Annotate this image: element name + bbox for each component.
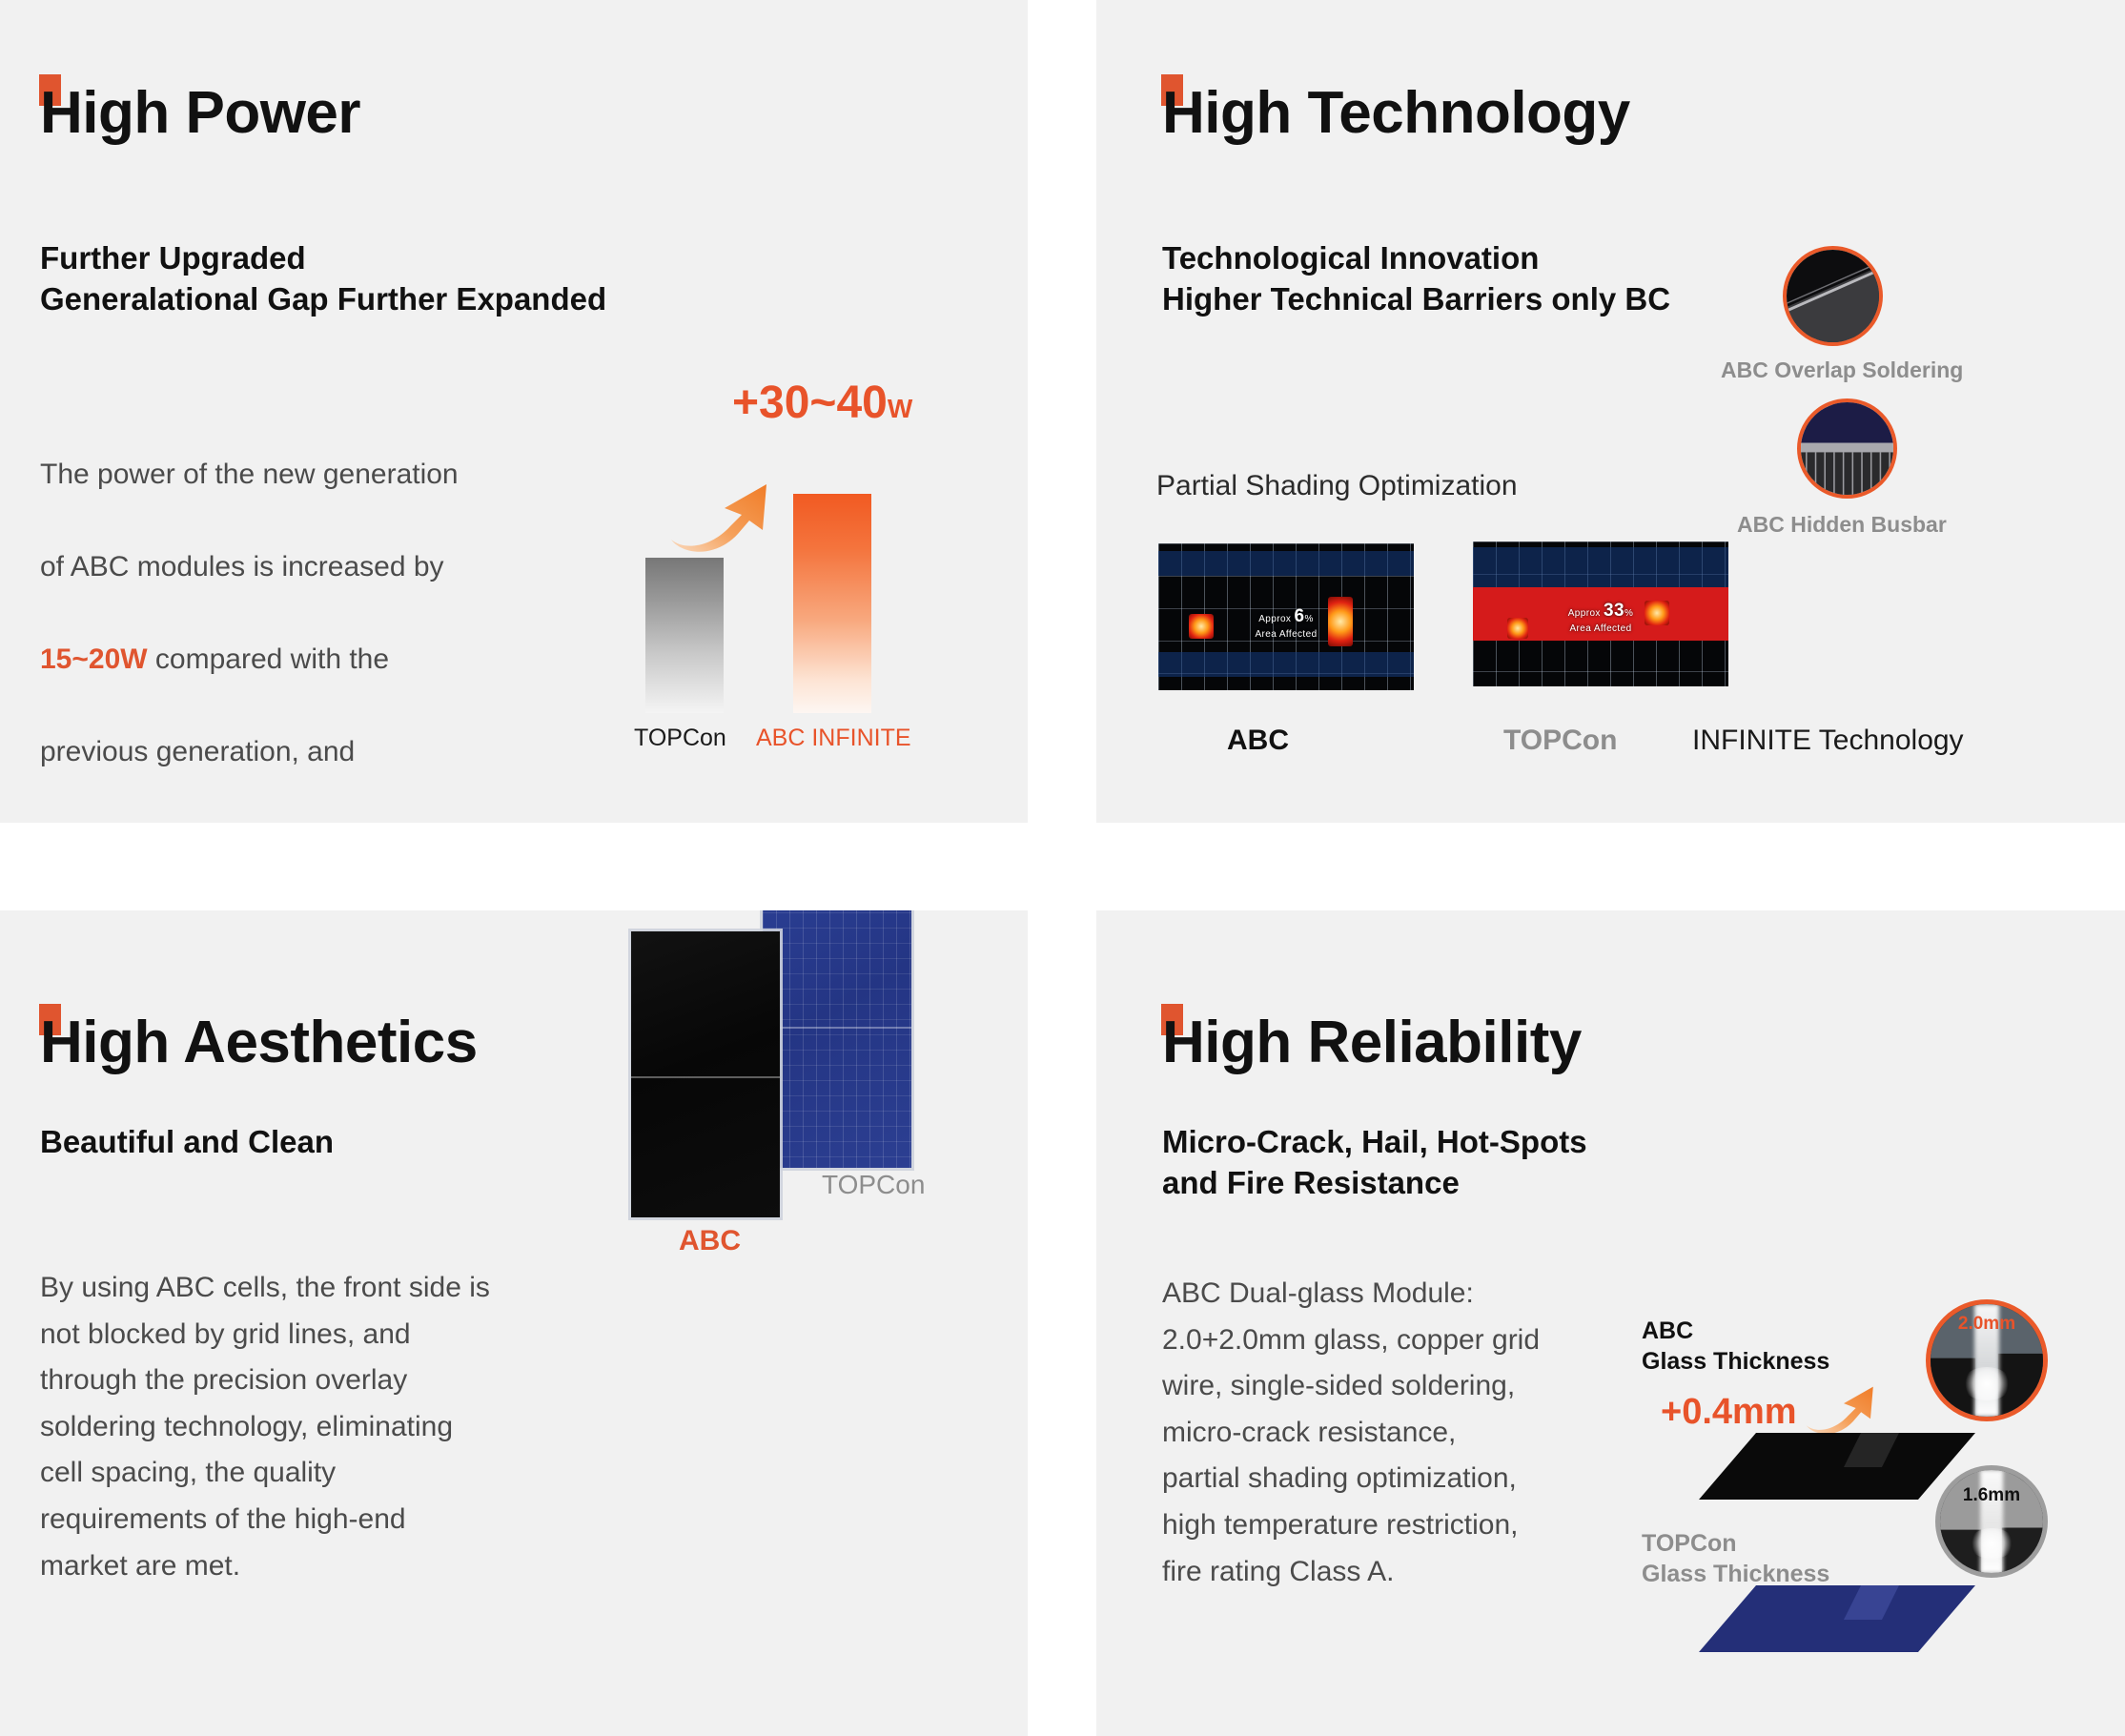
solar-panel-abc-image: [631, 931, 780, 1217]
light-glow: [1962, 1367, 2012, 1400]
label-abc-glass-thickness: ABC Glass Thickness: [1642, 1316, 1829, 1377]
light-glow: [1969, 1528, 2014, 1559]
caption-abc: ABC: [1227, 725, 1289, 757]
badge-caption-overlap-soldering: ABC Overlap Soldering: [1721, 357, 1963, 383]
thermal-band-blue: [1473, 547, 1728, 587]
page-title: High Aesthetics: [40, 1013, 478, 1072]
panel-body: The power of the new generation of ABC m…: [40, 405, 593, 823]
caption-topcon: TOPCon: [1503, 725, 1617, 757]
caption-infinite-technology: INFINITE Technology: [1692, 725, 1964, 757]
page-title: High Technology: [1162, 84, 1630, 143]
body-line-2: of ABC modules is increased by: [40, 551, 444, 582]
label-topcon-glass-thickness: TOPCon Glass Thickness: [1642, 1528, 1829, 1589]
page-title: High Power: [40, 84, 360, 143]
page-title: High Reliability: [1162, 1013, 1582, 1072]
panel-split-line: [763, 1027, 911, 1029]
body-line-1: The power of the new generation: [40, 459, 459, 490]
glass-slab-topcon: [1699, 1585, 1975, 1662]
panel-high-aesthetics: High Aesthetics Beautiful and Clean By u…: [0, 910, 1028, 1736]
chart-annotation-unit: W: [888, 394, 912, 423]
value-topcon-thickness: 1.6mm: [1940, 1485, 2043, 1506]
bar-topcon: [645, 558, 724, 713]
body-highlight-1: 15~20W: [40, 643, 148, 675]
magnifier-topcon-glass: 1.6mm: [1935, 1465, 2048, 1578]
badge-abc-hidden-busbar-image: [1797, 398, 1897, 499]
value-abc-thickness: 2.0mm: [1931, 1314, 2043, 1335]
label-thickness-delta: +0.4mm: [1661, 1392, 1797, 1433]
solar-panel-topcon-image: [763, 910, 911, 1168]
panel-subtitle: Technological Innovation Higher Technica…: [1162, 238, 2039, 320]
panel-split-line: [631, 1076, 780, 1078]
bar-label-topcon: TOPCon: [634, 725, 726, 752]
panel-subtitle: Further Upgraded Generalational Gap Furt…: [40, 238, 898, 320]
pv-caption-abc: ABC: [679, 1225, 741, 1257]
panel-high-reliability: High Reliability Micro-Crack, Hail, Hot-…: [1096, 910, 2125, 1736]
rising-arrow-icon: [1804, 1379, 1884, 1437]
panel-body: ABC Dual-glass Module: 2.0+2.0mm glass, …: [1162, 1271, 1658, 1595]
thermal-band-blue: [1158, 551, 1414, 576]
panel-high-technology: High Technology Technological Innovation…: [1096, 0, 2125, 823]
panel-subtitle: Micro-Crack, Hail, Hot-Spots and Fire Re…: [1162, 1122, 2039, 1204]
badge-abc-overlap-soldering-image: [1783, 246, 1883, 346]
thermal-image-abc: Approx 6% Area Affected: [1158, 543, 1414, 690]
rising-arrow-icon: [667, 477, 782, 553]
hotspot: [1645, 601, 1669, 625]
bar-label-abc-infinite: ABC INFINITE: [756, 725, 911, 752]
thermal-band-blue: [1158, 652, 1414, 677]
pv-caption-topcon: TOPCon: [822, 1170, 925, 1200]
panel-high-power: High Power Further Upgraded Generalation…: [0, 0, 1028, 823]
hotspot: [1189, 614, 1214, 639]
magnifier-abc-glass: 2.0mm: [1926, 1299, 2048, 1421]
badge-caption-hidden-busbar: ABC Hidden Busbar: [1737, 512, 1947, 538]
feature-grid: High Power Further Upgraded Generalation…: [0, 0, 2125, 1736]
body-line-3: compared with the: [148, 643, 389, 675]
bar-abc-infinite: [793, 494, 871, 713]
glass-thickness-diagram: ABC Glass Thickness +0.4mm: [1640, 1292, 2116, 1692]
thermal-image-topcon: Approx 33% Area Affected: [1473, 541, 1728, 686]
power-comparison-chart: +30~40W TOPCon ABC INFINITE: [629, 381, 1011, 763]
chart-annotation-value: +30~40: [732, 378, 888, 428]
section-label-partial-shading: Partial Shading Optimization: [1156, 470, 1518, 502]
glass-slab-abc: [1699, 1433, 1975, 1509]
panel-body: By using ABC cells, the front side is no…: [40, 1265, 631, 1589]
chart-annotation: +30~40W: [732, 377, 912, 429]
hotspot: [1328, 597, 1353, 646]
body-line-4: previous generation, and: [40, 736, 355, 767]
hotspot: [1507, 618, 1528, 639]
